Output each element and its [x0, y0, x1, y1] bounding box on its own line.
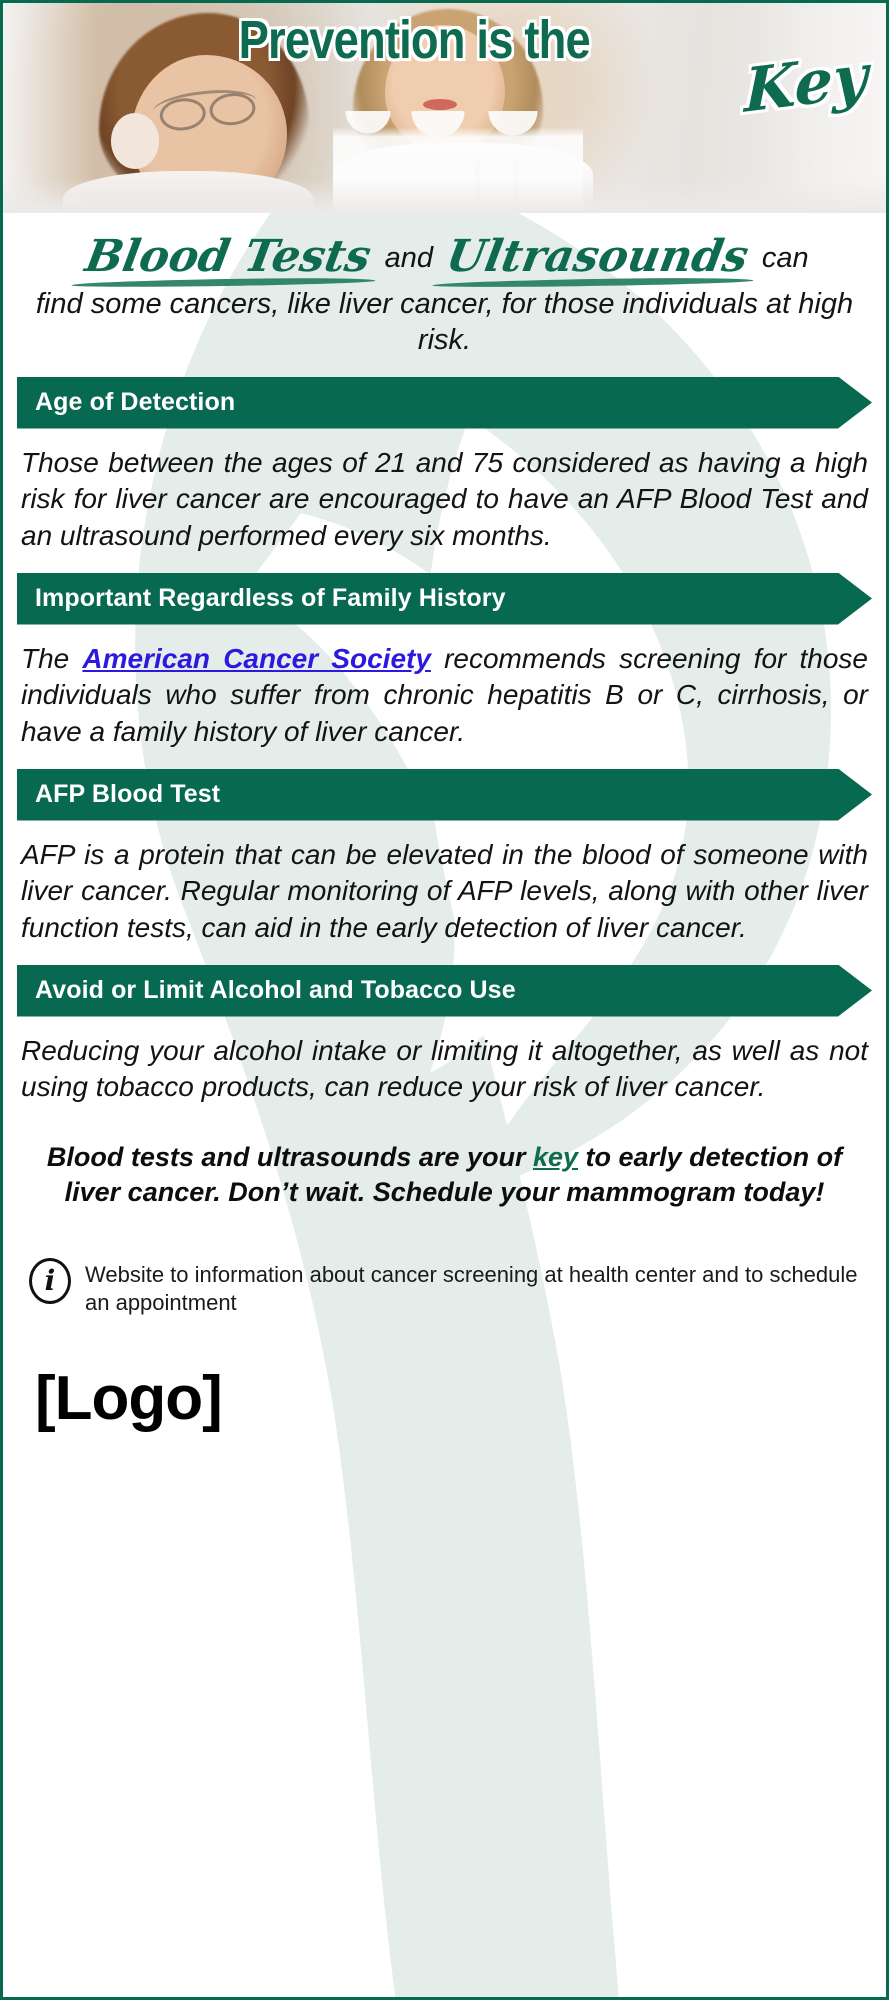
intro-connector: and [385, 242, 433, 274]
infographic-poster: Prevention is the Key Blood Tests and Ul… [0, 0, 889, 2000]
american-cancer-society-link[interactable]: American Cancer Society [82, 643, 431, 674]
clinician-lips [423, 99, 457, 110]
header-banner: Prevention is the Key [3, 3, 886, 213]
intro-paragraph: Blood Tests and Ultrasounds can find som… [17, 213, 872, 359]
footer-note-text: Website to information about cancer scre… [85, 1258, 860, 1317]
banner-afp-blood-test: AFP Blood Test [17, 769, 872, 821]
text-before-link: The [21, 643, 82, 674]
intro-tail: can [762, 242, 809, 274]
paragraph-alcohol-tobacco: Reducing your alcohol intake or limiting… [17, 1017, 872, 1106]
call-to-action: Blood tests and ultrasounds are your key… [17, 1140, 872, 1210]
info-icon: i [29, 1258, 71, 1304]
banner-family-history: Important Regardless of Family History [17, 573, 872, 625]
patient-ear [111, 113, 159, 169]
banner-label: Avoid or Limit Alcohol and Tobacco Use [35, 976, 516, 1005]
photo-bottom-fade [3, 179, 886, 213]
logo-placeholder: [Logo] [17, 1363, 872, 1434]
page-title: Prevention is the [74, 9, 816, 71]
footer-note: i Website to information about cancer sc… [17, 1258, 872, 1317]
banner-label: Age of Detection [35, 388, 235, 417]
paragraph-age-of-detection: Those between the ages of 21 and 75 cons… [17, 429, 872, 555]
cta-before: Blood tests and ultrasounds are your [47, 1142, 533, 1172]
content-column: Blood Tests and Ultrasounds can find som… [3, 213, 886, 1434]
banner-label: Important Regardless of Family History [35, 584, 506, 613]
poster-body: Blood Tests and Ultrasounds can find som… [3, 213, 886, 1997]
paragraph-afp-blood-test: AFP is a protein that can be elevated in… [17, 821, 872, 947]
script-ultrasounds: Ultrasounds [436, 229, 758, 284]
key-link[interactable]: key [533, 1142, 578, 1172]
banner-label: AFP Blood Test [35, 780, 220, 809]
paragraph-family-history: The American Cancer Society recommends s… [17, 625, 872, 751]
script-blood-tests: Blood Tests [75, 229, 381, 284]
intro-rest: find some cancers, like liver cancer, fo… [35, 286, 854, 359]
banner-alcohol-tobacco: Avoid or Limit Alcohol and Tobacco Use [17, 965, 872, 1017]
banner-age-of-detection: Age of Detection [17, 377, 872, 429]
